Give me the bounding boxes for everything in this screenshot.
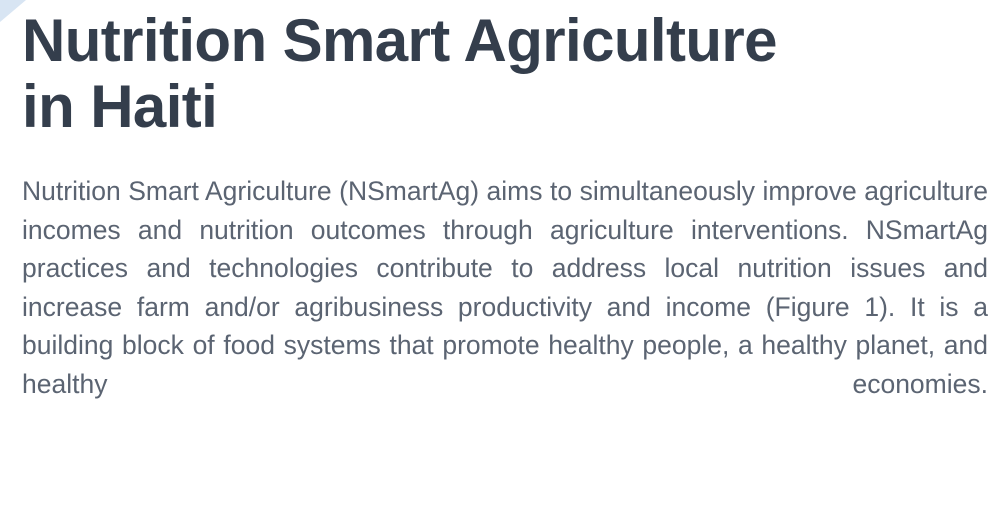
body-paragraph: Nutrition Smart Agriculture (NSmartAg) a… bbox=[22, 140, 988, 442]
page-title: Nutrition Smart Agriculture in Haiti bbox=[22, 0, 982, 140]
document-page: Nutrition Smart Agriculture in Haiti Nut… bbox=[0, 0, 1000, 505]
document-content: Nutrition Smart Agriculture in Haiti Nut… bbox=[22, 0, 988, 442]
